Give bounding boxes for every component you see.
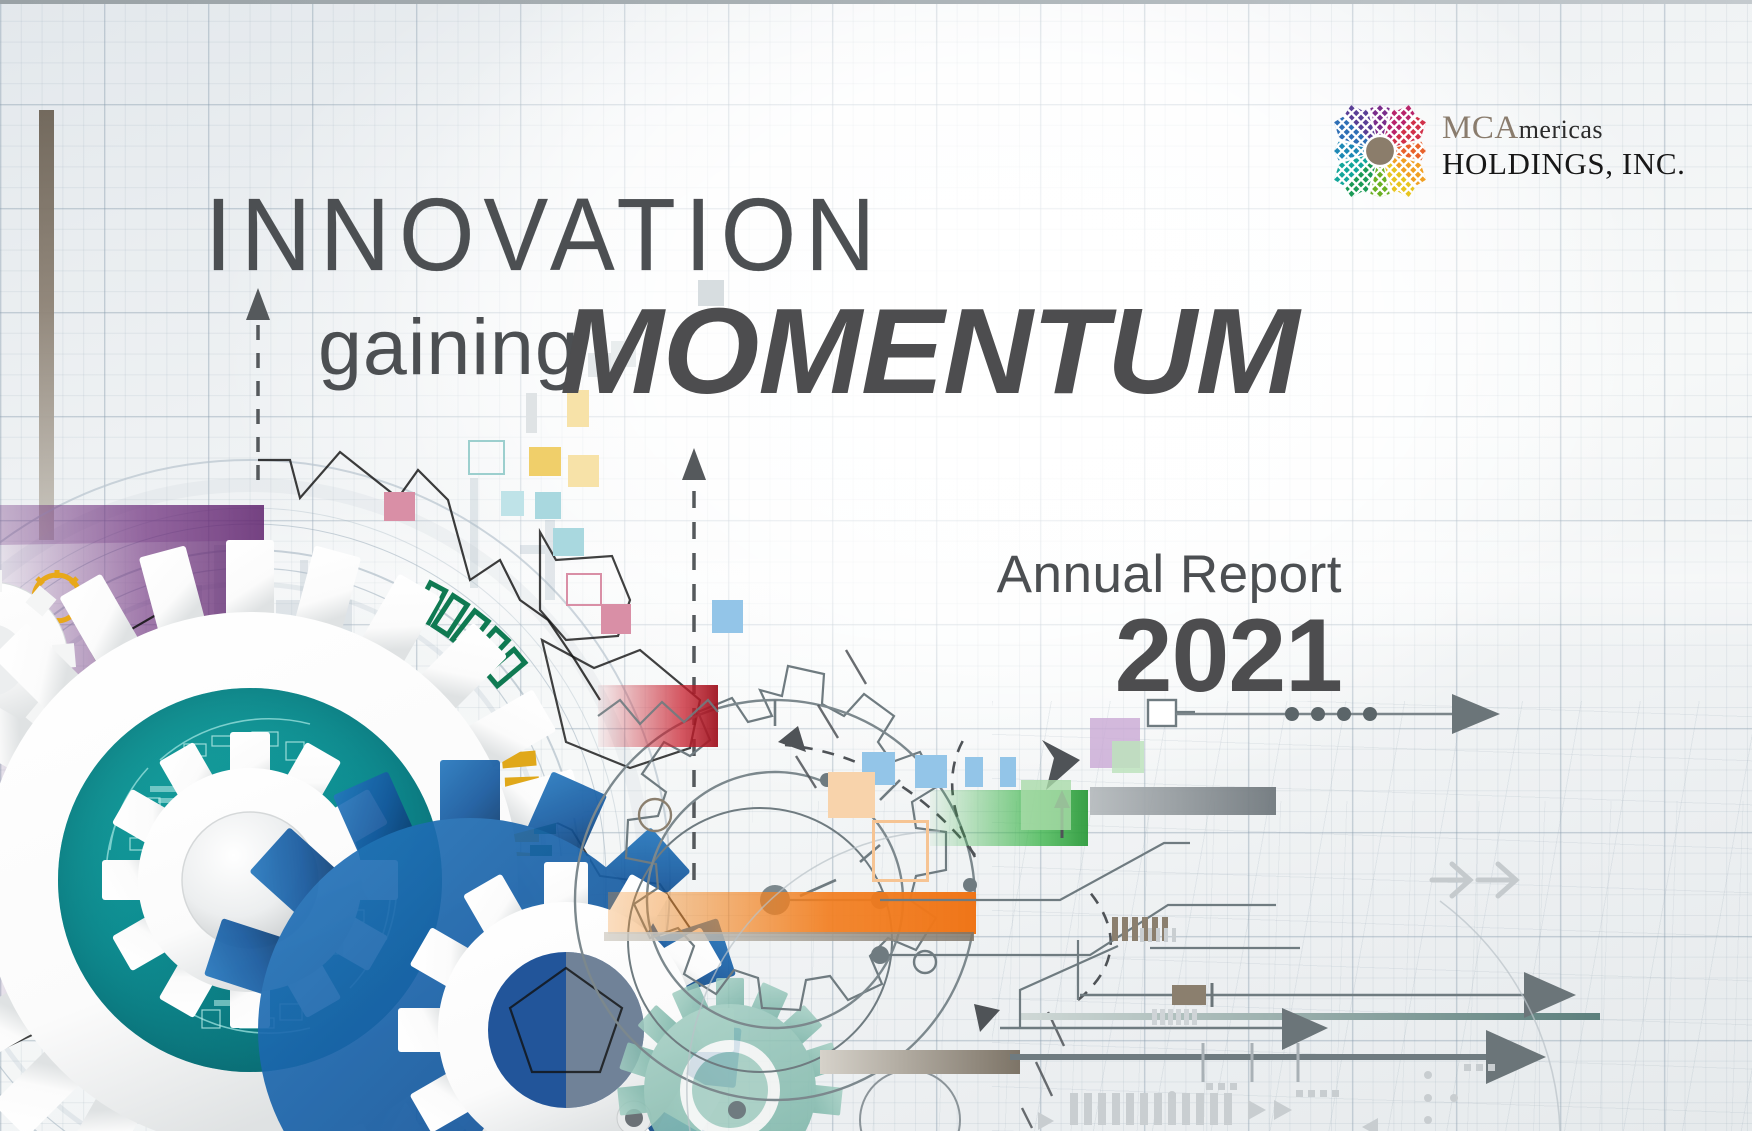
logo-mericas-suffix: mericas bbox=[1519, 115, 1603, 144]
taupe-gradient-bar bbox=[820, 1050, 1020, 1074]
cyan-square-2 bbox=[501, 491, 524, 516]
teal-thin-bar bbox=[1020, 1013, 1600, 1020]
blue-square-5 bbox=[1000, 757, 1016, 787]
square-node bbox=[1148, 700, 1176, 726]
mcamericas-pinwheel-logo-icon bbox=[1332, 103, 1428, 199]
cyan-square-1 bbox=[535, 492, 561, 519]
logo-line-2: HOLDINGS, INC. bbox=[1442, 147, 1685, 181]
teal-outline-square bbox=[468, 440, 505, 475]
peach-outline-square bbox=[872, 820, 929, 882]
right-arrow-dotted bbox=[1176, 694, 1500, 734]
company-logo[interactable]: MCAmericas HOLDINGS, INC. bbox=[1332, 103, 1752, 203]
right-arrow-bold bbox=[1010, 1030, 1546, 1084]
pink-square-1 bbox=[384, 492, 415, 521]
yellow-square-2 bbox=[567, 390, 589, 427]
barcode-strip-2 bbox=[1070, 1093, 1232, 1125]
yellow-square-3 bbox=[568, 455, 599, 487]
annual-report-cover: INNOVATION gaining MOMENTUM Annual Repor… bbox=[0, 0, 1752, 1131]
yellow-square-1 bbox=[529, 447, 561, 476]
pink-outline-square bbox=[566, 573, 602, 606]
pink-square-2 bbox=[601, 604, 631, 634]
blue-square-3 bbox=[915, 755, 947, 788]
grey-square-3 bbox=[611, 341, 636, 367]
green-square-soft-2 bbox=[1112, 741, 1144, 773]
double-chevron-right bbox=[1432, 864, 1516, 896]
blue-square-1 bbox=[712, 600, 743, 633]
grey-square-4 bbox=[698, 280, 724, 306]
cyan-square-3 bbox=[553, 528, 584, 556]
orange-gradient-bar bbox=[608, 892, 976, 934]
peach-square bbox=[828, 772, 875, 818]
red-gradient-bar bbox=[598, 685, 718, 747]
green-square-soft-1 bbox=[1021, 780, 1071, 830]
logo-wordmark: MCAmericas HOLDINGS, INC. bbox=[1442, 109, 1685, 181]
grey-square-2 bbox=[588, 353, 612, 377]
grey-square-1 bbox=[526, 393, 537, 433]
grey-gradient-bar bbox=[1090, 787, 1276, 815]
logo-mca-prefix: MCA bbox=[1442, 110, 1519, 146]
blue-square-4 bbox=[965, 757, 983, 787]
logo-line-1: MCAmericas bbox=[1442, 109, 1685, 147]
